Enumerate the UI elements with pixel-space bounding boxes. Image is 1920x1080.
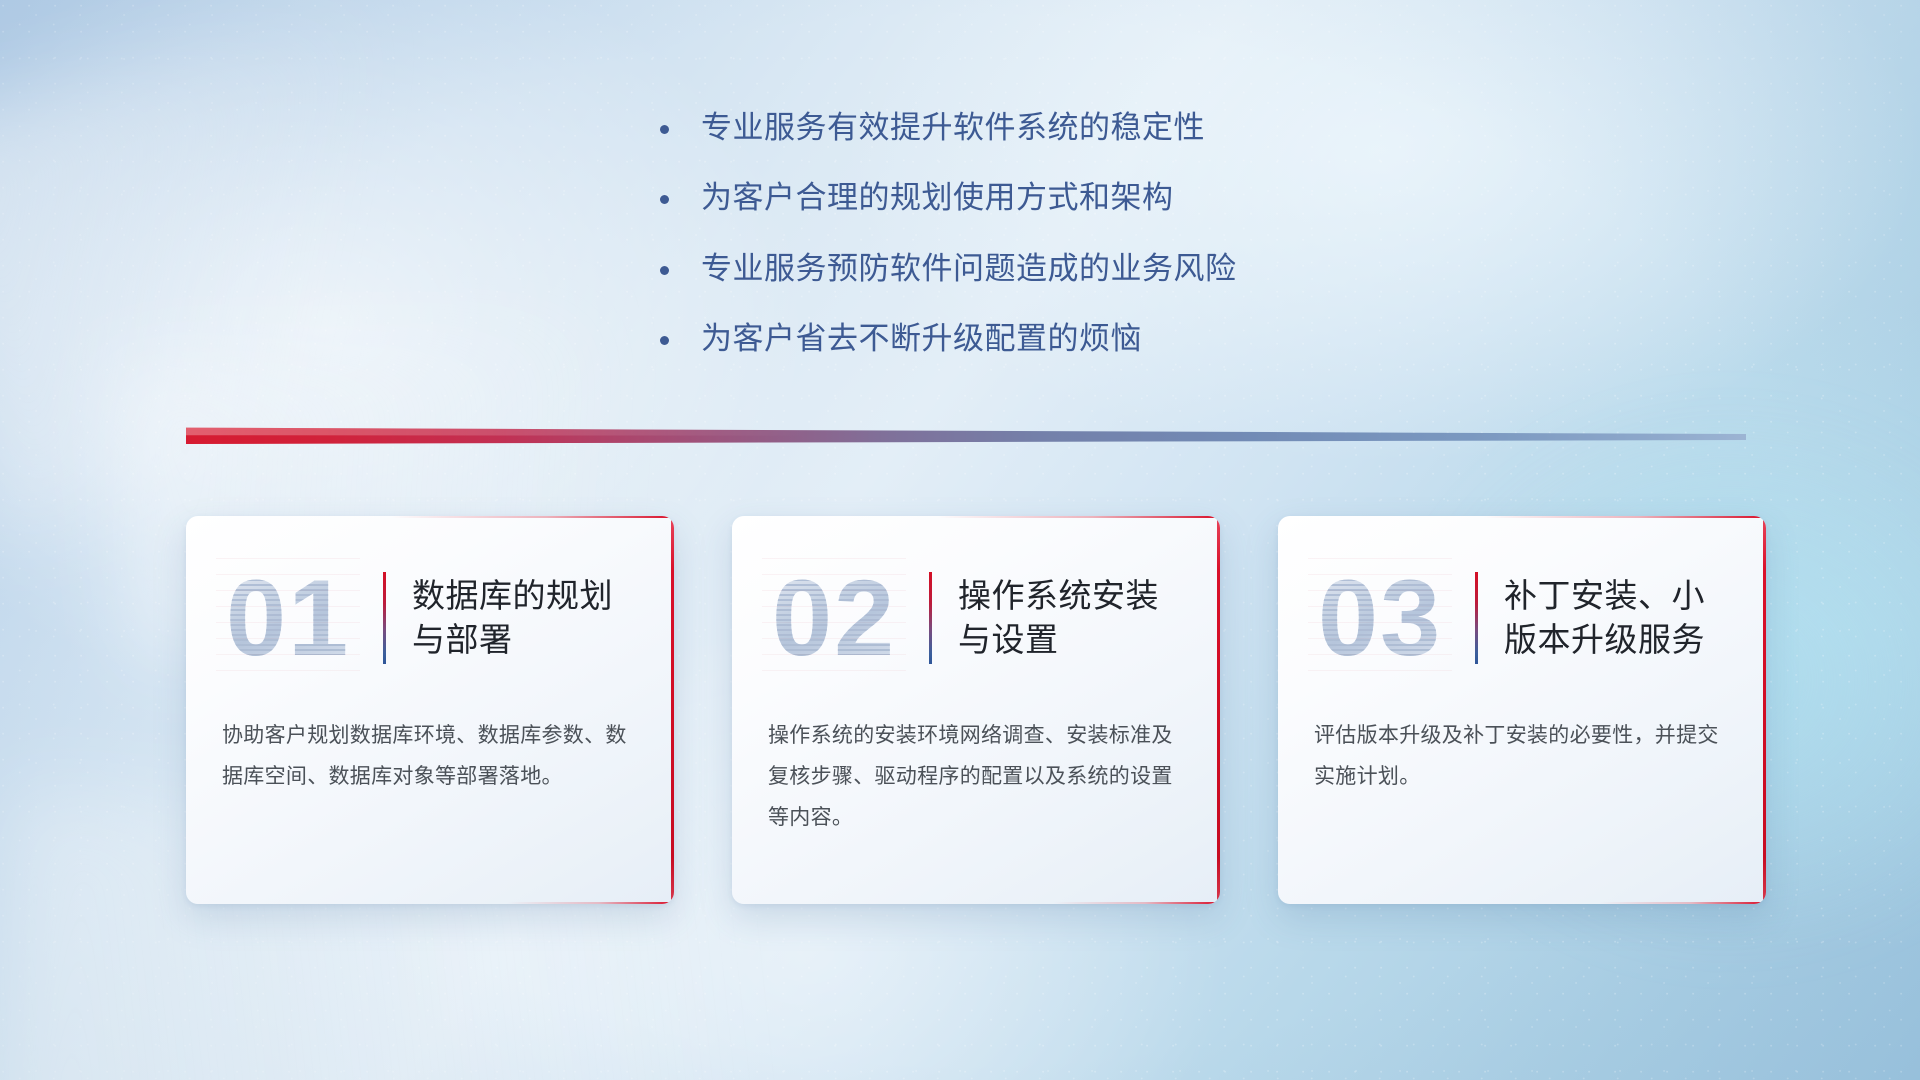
card-number-ghost: 03 xyxy=(1318,564,1442,672)
list-item: 专业服务有效提升软件系统的稳定性 xyxy=(660,108,1420,148)
card-description: 协助客户规划数据库环境、数据库参数、数据库空间、数据库对象等部署落地。 xyxy=(186,682,674,798)
bullet-text: 专业服务预防软件问题造成的业务风险 xyxy=(701,249,1237,289)
card-title: 数据库的规划与部署 xyxy=(412,574,640,661)
card-title-separator xyxy=(383,572,386,664)
card-header: 02 操作系统安装与设置 xyxy=(732,516,1220,682)
section-divider xyxy=(186,424,1746,444)
card-title-separator xyxy=(1475,572,1478,664)
bullet-dot-icon xyxy=(660,125,669,134)
list-item: 为客户省去不断升级配置的烦恼 xyxy=(660,319,1420,359)
card-header: 01 数据库的规划与部署 xyxy=(186,516,674,682)
card-description: 操作系统的安装环境网络调查、安装标准及复核步骤、驱动程序的配置以及系统的设置等内… xyxy=(732,682,1220,839)
list-item: 专业服务预防软件问题造成的业务风险 xyxy=(660,249,1420,289)
card-number-ghost: 02 xyxy=(772,564,896,672)
card-title: 补丁安装、小版本升级服务 xyxy=(1504,574,1732,661)
bullet-text: 为客户省去不断升级配置的烦恼 xyxy=(701,319,1142,359)
background-light-streak-top-left xyxy=(0,3,503,536)
benefits-bullet-list: 专业服务有效提升软件系统的稳定性 为客户合理的规划使用方式和架构 专业服务预防软… xyxy=(660,108,1420,389)
slide-root: 专业服务有效提升软件系统的稳定性 为客户合理的规划使用方式和架构 专业服务预防软… xyxy=(0,0,1920,1080)
list-item: 为客户合理的规划使用方式和架构 xyxy=(660,178,1420,218)
service-card-03[interactable]: 03 补丁安装、小版本升级服务 评估版本升级及补丁安装的必要性，并提交实施计划。 xyxy=(1278,516,1766,904)
bullet-text: 为客户合理的规划使用方式和架构 xyxy=(701,178,1174,218)
divider-gradient-bar xyxy=(186,424,1746,444)
bullet-dot-icon xyxy=(660,266,669,275)
card-header: 03 补丁安装、小版本升级服务 xyxy=(1278,516,1766,682)
bullet-text: 专业服务有效提升软件系统的稳定性 xyxy=(701,108,1205,148)
card-description: 评估版本升级及补丁安装的必要性，并提交实施计划。 xyxy=(1278,682,1766,798)
card-title-separator xyxy=(929,572,932,664)
card-accent-bottom-line xyxy=(1600,902,1766,904)
card-number-ghost: 01 xyxy=(226,564,350,672)
card-title: 操作系统安装与设置 xyxy=(958,574,1186,661)
service-card-02[interactable]: 02 操作系统安装与设置 操作系统的安装环境网络调查、安装标准及复核步骤、驱动程… xyxy=(732,516,1220,904)
card-accent-bottom-line xyxy=(508,902,674,904)
service-card-01[interactable]: 01 数据库的规划与部署 协助客户规划数据库环境、数据库参数、数据库空间、数据库… xyxy=(186,516,674,904)
bullet-dot-icon xyxy=(660,195,669,204)
service-card-group: 01 数据库的规划与部署 协助客户规划数据库环境、数据库参数、数据库空间、数据库… xyxy=(186,516,1766,904)
bullet-dot-icon xyxy=(660,336,669,345)
card-accent-bottom-line xyxy=(1054,902,1220,904)
